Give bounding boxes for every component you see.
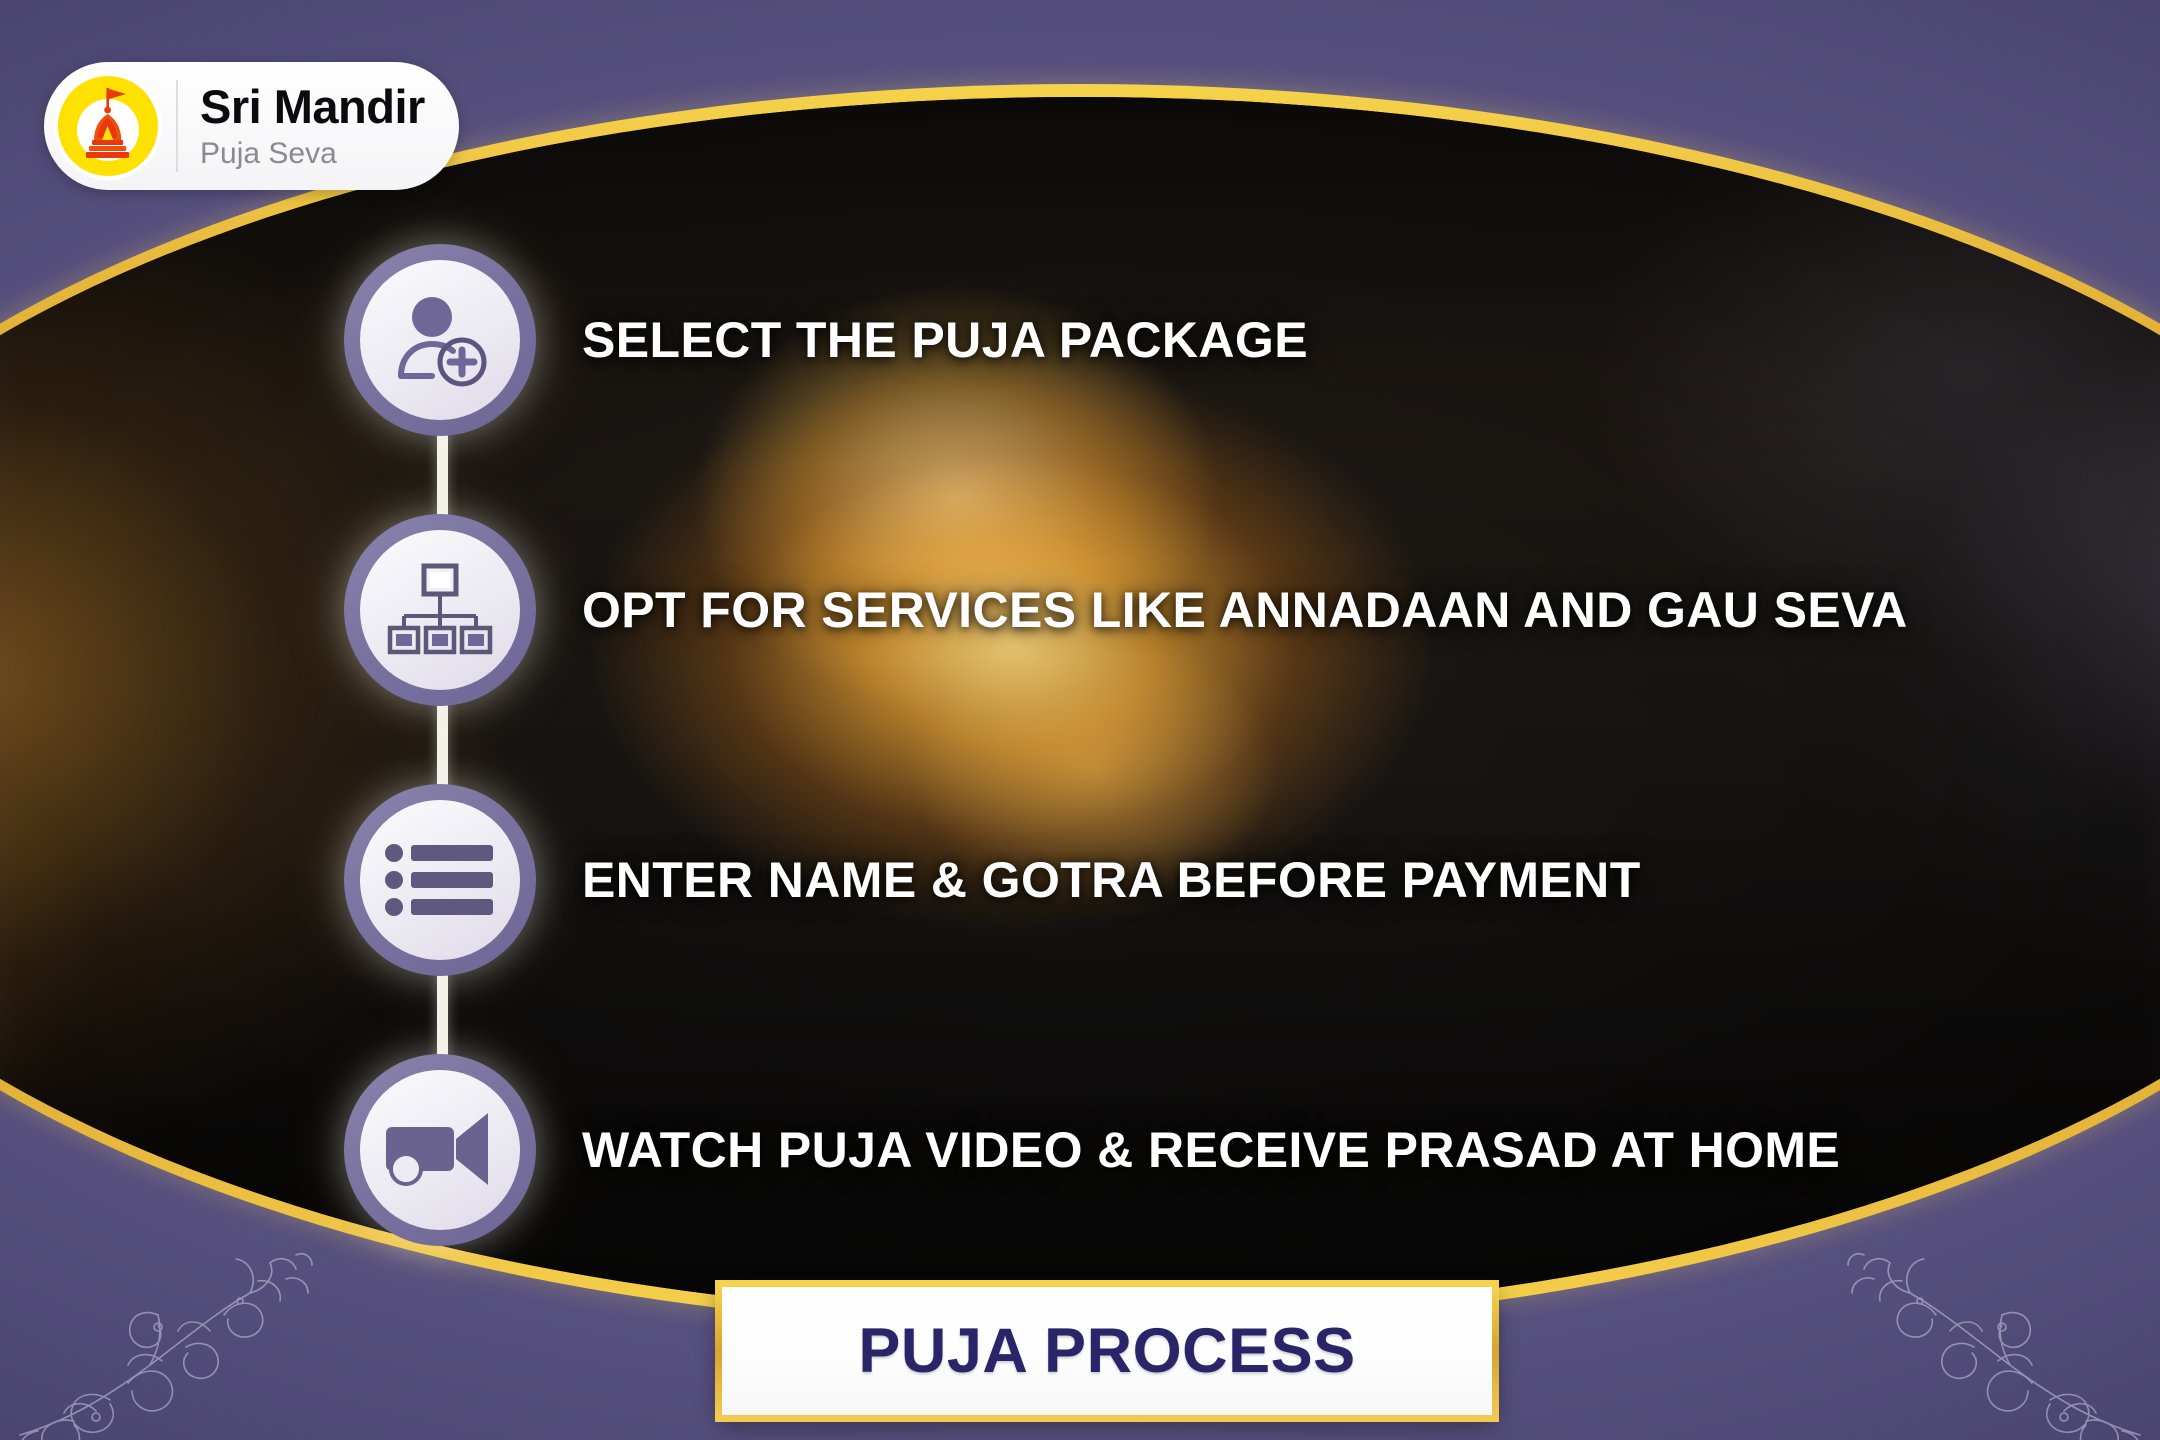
brand-title: Sri Mandir [200,83,425,130]
puja-process-poster: Sri Mandir Puja Seva SELECT [0,0,2160,1440]
step-2-badge [344,514,536,706]
add-user-icon [360,260,520,420]
step-1-label: SELECT THE PUJA PACKAGE [582,311,1308,369]
video-camera-icon [360,1070,520,1230]
step-4-badge [344,1054,536,1246]
step-3-label: ENTER NAME & GOTRA BEFORE PAYMENT [582,851,1641,909]
process-step-2[interactable]: OPT FOR SERVICES LIKE ANNADAAN AND GAU S… [344,514,1908,706]
step-2-label: OPT FOR SERVICES LIKE ANNADAAN AND GAU S… [582,581,1908,639]
hierarchy-icon [360,530,520,690]
step-4-label: WATCH PUJA VIDEO & RECEIVE PRASAD AT HOM… [582,1121,1840,1179]
brand-subtitle: Puja Seva [200,139,425,169]
temple-mandir-icon [54,72,162,180]
process-step-3[interactable]: ENTER NAME & GOTRA BEFORE PAYMENT [344,784,1641,976]
step-1-badge [344,244,536,436]
brand-divider [176,80,178,172]
puja-process-button[interactable]: PUJA PROCESS [715,1280,1499,1422]
brand-badge[interactable]: Sri Mandir Puja Seva [44,62,459,190]
list-icon [360,800,520,960]
process-step-list: SELECT THE PUJA PACKAGE [0,0,2160,1440]
process-step-1[interactable]: SELECT THE PUJA PACKAGE [344,244,1308,436]
process-step-4[interactable]: WATCH PUJA VIDEO & RECEIVE PRASAD AT HOM… [344,1054,1840,1246]
puja-process-button-label: PUJA PROCESS [858,1315,1355,1387]
step-3-badge [344,784,536,976]
